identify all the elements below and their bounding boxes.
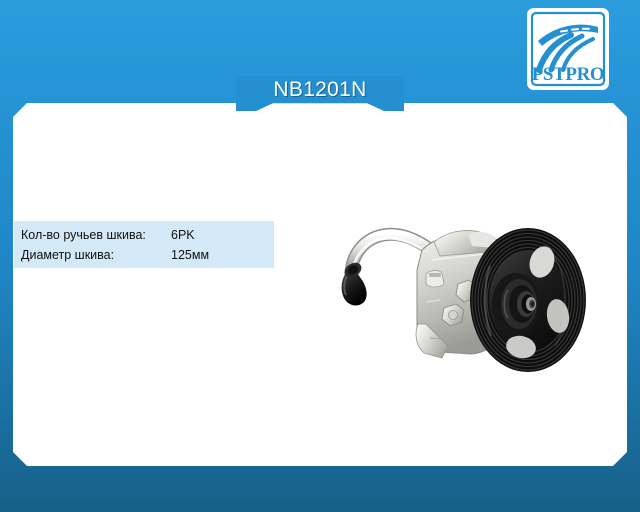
specifications-box: Кол-во ручьев шкива:6PK Диаметр шкива:12…	[14, 221, 274, 268]
spec-label-pulley-grooves: Кол-во ручьев шкива:	[21, 225, 171, 245]
product-card: PSTPRO NB1201N Кол-во ручьев шкива:6PK Д…	[0, 0, 640, 512]
pstpro-logo-graphic: PSTPRO	[527, 8, 609, 90]
spec-row: Диаметр шкива:125мм	[21, 245, 274, 265]
spec-label-pulley-diameter: Диаметр шкива:	[21, 245, 171, 265]
product-image	[322, 212, 608, 377]
spec-value-pulley-diameter: 125мм	[171, 245, 209, 265]
spec-value-pulley-grooves: 6PK	[171, 225, 195, 245]
power-steering-pump-graphic	[322, 212, 608, 377]
pstpro-logo-text: PSTPRO	[532, 64, 605, 85]
pstpro-logo: PSTPRO	[527, 8, 609, 90]
page-title: NB1201N	[236, 78, 404, 102]
spec-row: Кол-во ручьев шкива:6PK	[21, 225, 274, 245]
